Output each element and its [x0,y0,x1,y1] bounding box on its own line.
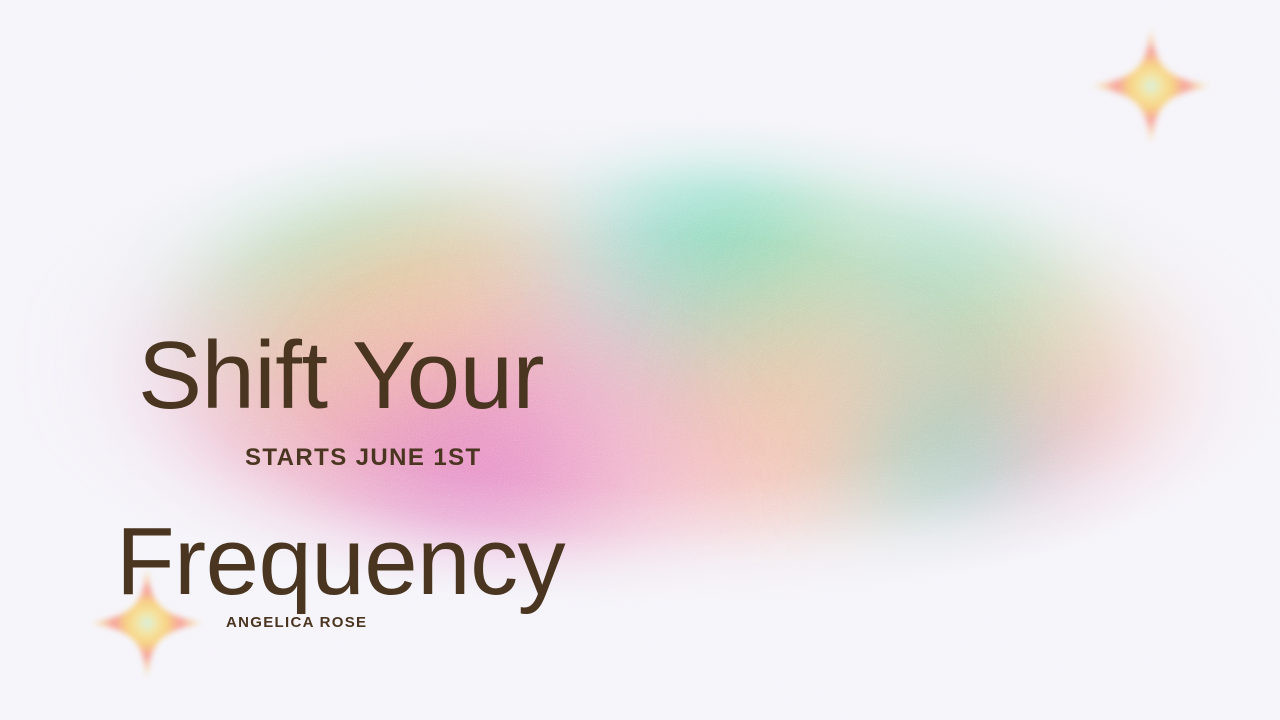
subtitle-start-date: STARTS JUNE 1ST [245,444,482,472]
author-credit: ANGELICA ROSE [226,614,367,631]
headline-line-2: Frequency [116,515,816,608]
gradient-blob-mint-lower [835,370,1135,600]
headline-line-1: Shift Your [116,329,816,422]
poster-canvas: Shift Your Frequency STARTS JUNE 1ST ANG… [0,0,1280,720]
